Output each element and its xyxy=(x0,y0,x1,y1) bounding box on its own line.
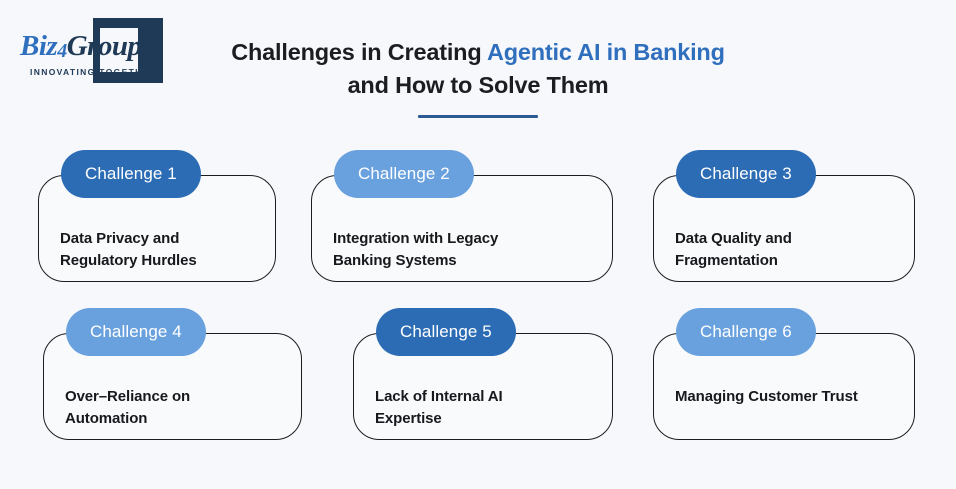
challenge-text-4: Over–Reliance on Automation xyxy=(65,386,288,430)
challenge-card-3[interactable]: Challenge 3 Data Quality and Fragmentati… xyxy=(653,150,915,282)
challenge-card-1[interactable]: Challenge 1 Data Privacy and Regulatory … xyxy=(38,150,276,282)
challenge-text-5: Lack of Internal AI Expertise xyxy=(375,386,599,430)
challenge-text-2: Integration with Legacy Banking Systems xyxy=(333,228,599,272)
challenge-text-1: Data Privacy and Regulatory Hurdles xyxy=(60,228,262,272)
challenge-badge-6[interactable]: Challenge 6 xyxy=(676,308,816,356)
challenge-badge-2[interactable]: Challenge 2 xyxy=(334,150,474,198)
logo-word-four: 4 xyxy=(57,40,67,62)
challenge-text-3: Data Quality and Fragmentation xyxy=(675,228,901,272)
challenge-text-6: Managing Customer Trust xyxy=(675,386,901,408)
challenge-badge-3[interactable]: Challenge 3 xyxy=(676,150,816,198)
challenge-card-2[interactable]: Challenge 2 Integration with Legacy Bank… xyxy=(311,150,613,282)
challenge-badge-5[interactable]: Challenge 5 xyxy=(376,308,516,356)
page-title-line-1: Challenges in Creating Agentic AI in Ban… xyxy=(178,36,778,69)
page-title-accent: Agentic AI in Banking xyxy=(487,39,725,65)
page-title: Challenges in Creating Agentic AI in Ban… xyxy=(178,36,778,118)
logo-word-biz: Biz xyxy=(20,30,57,62)
logo-word-group: Group xyxy=(67,30,142,62)
challenges-grid: Challenge 1 Data Privacy and Regulatory … xyxy=(0,130,956,489)
title-divider xyxy=(418,115,538,118)
challenge-card-6[interactable]: Challenge 6 Managing Customer Trust xyxy=(653,308,915,440)
logo-tagline: INNOVATING TOGETHER xyxy=(30,67,157,77)
page-title-plain: Challenges in Creating xyxy=(231,39,487,65)
challenge-card-5[interactable]: Challenge 5 Lack of Internal AI Expertis… xyxy=(353,308,613,440)
challenge-badge-1[interactable]: Challenge 1 xyxy=(61,150,201,198)
challenge-card-4[interactable]: Challenge 4 Over–Reliance on Automation xyxy=(43,308,302,440)
header: Biz4Group INNOVATING TOGETHER Challenges… xyxy=(0,0,956,130)
page-title-line-2: and How to Solve Them xyxy=(178,69,778,102)
brand-logo[interactable]: Biz4Group INNOVATING TOGETHER xyxy=(18,16,168,88)
challenge-badge-4[interactable]: Challenge 4 xyxy=(66,308,206,356)
logo-wordmark: Biz4Group xyxy=(20,30,142,63)
